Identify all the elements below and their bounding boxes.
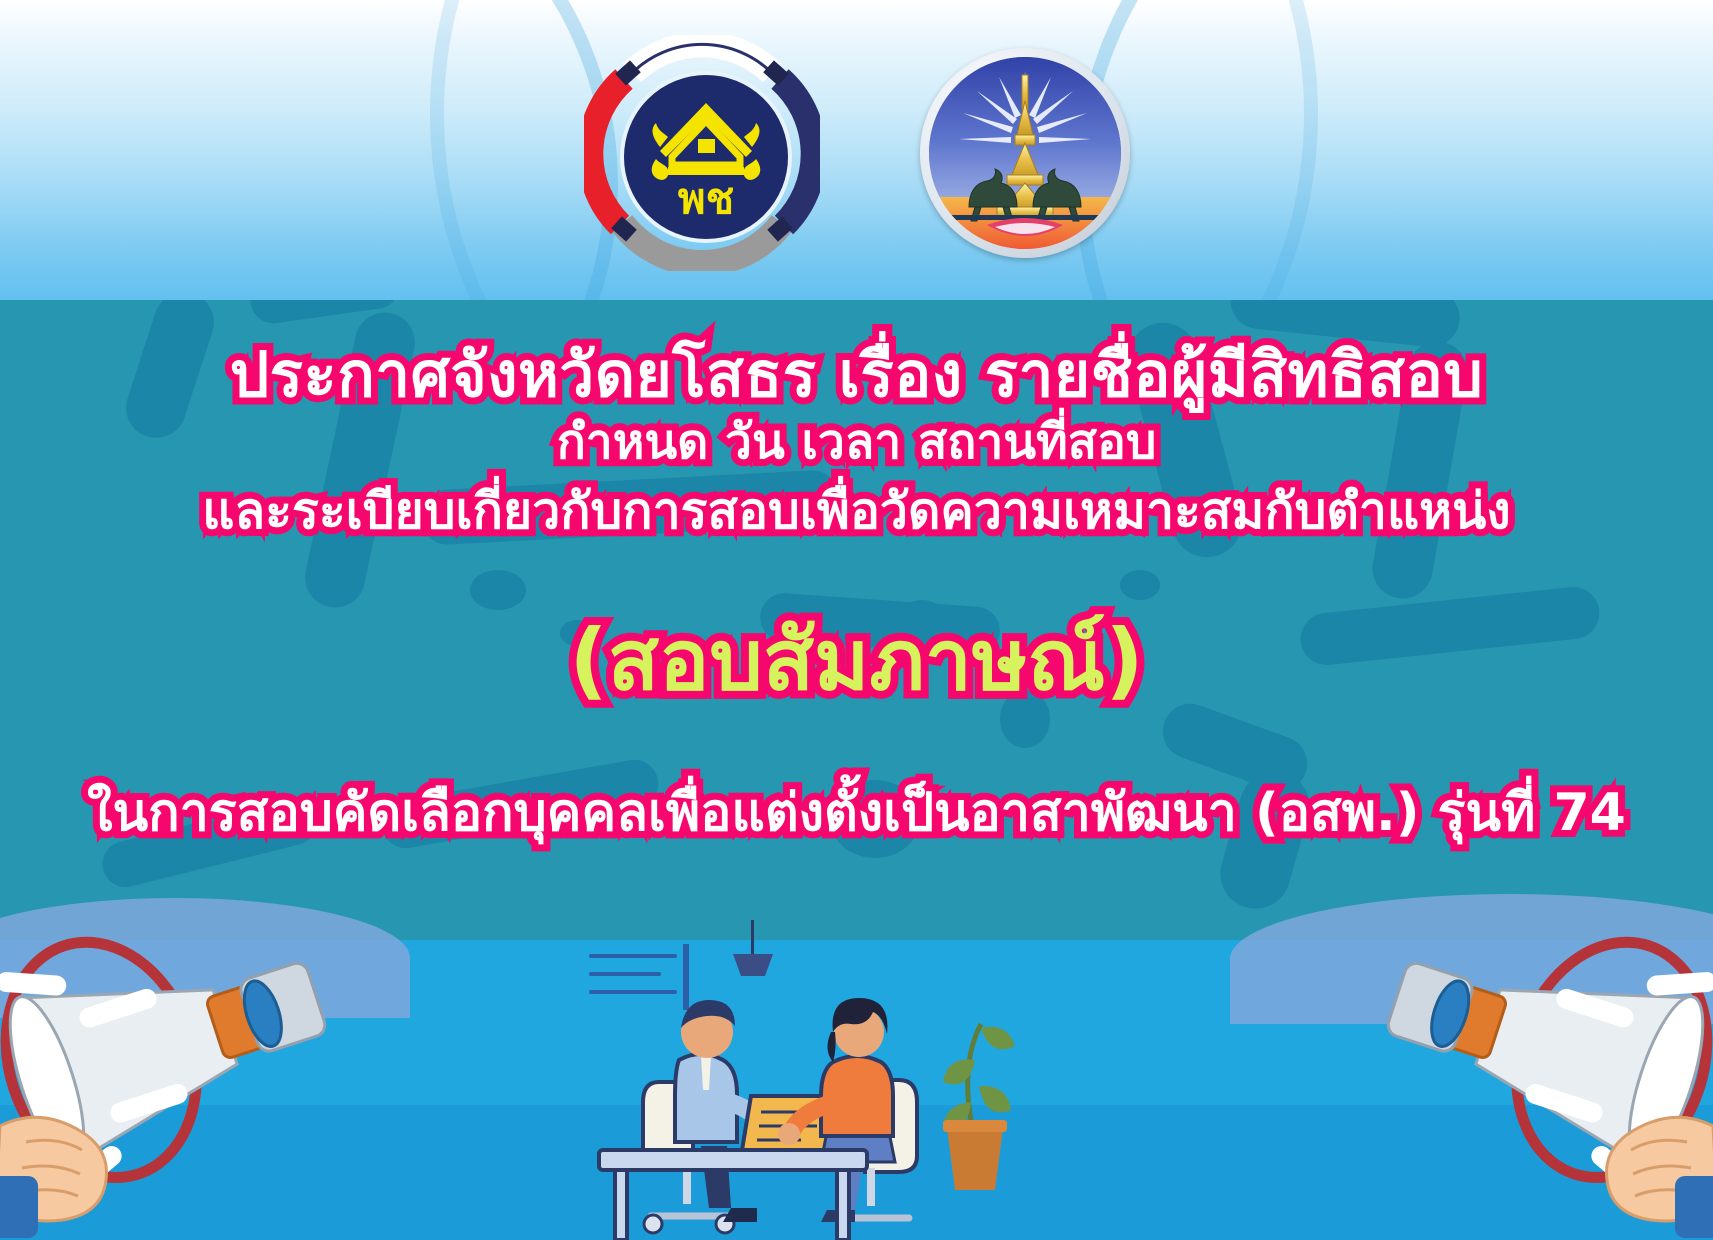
emphasis-text: (สอบสัมภาษณ์) xyxy=(0,592,1713,726)
wall-divider xyxy=(683,944,689,1010)
potted-plant-icon xyxy=(943,1024,1015,1190)
headline-line-2: กำหนด วัน เวลา สถานที่สอบ xyxy=(0,404,1713,480)
megaphone-left xyxy=(0,880,408,1240)
job-interview-illustration xyxy=(555,920,1075,1240)
wall-lines xyxy=(591,956,675,992)
megaphone-icon xyxy=(0,880,408,1240)
subheadline-text: ในการสอบคัดเลือกบุคคลเพื่อแต่งตั้งเป็นอา… xyxy=(0,770,1713,853)
poster-root: พช xyxy=(0,0,1713,1240)
interview-scene xyxy=(555,920,1075,1240)
headline-line-3: และระเบียบเกี่ยวกับการสอบเพื่อวัดความเหม… xyxy=(0,472,1713,551)
hanging-lamp-icon xyxy=(733,920,773,976)
megaphone-icon xyxy=(1305,880,1713,1240)
megaphone-right xyxy=(1305,880,1713,1240)
